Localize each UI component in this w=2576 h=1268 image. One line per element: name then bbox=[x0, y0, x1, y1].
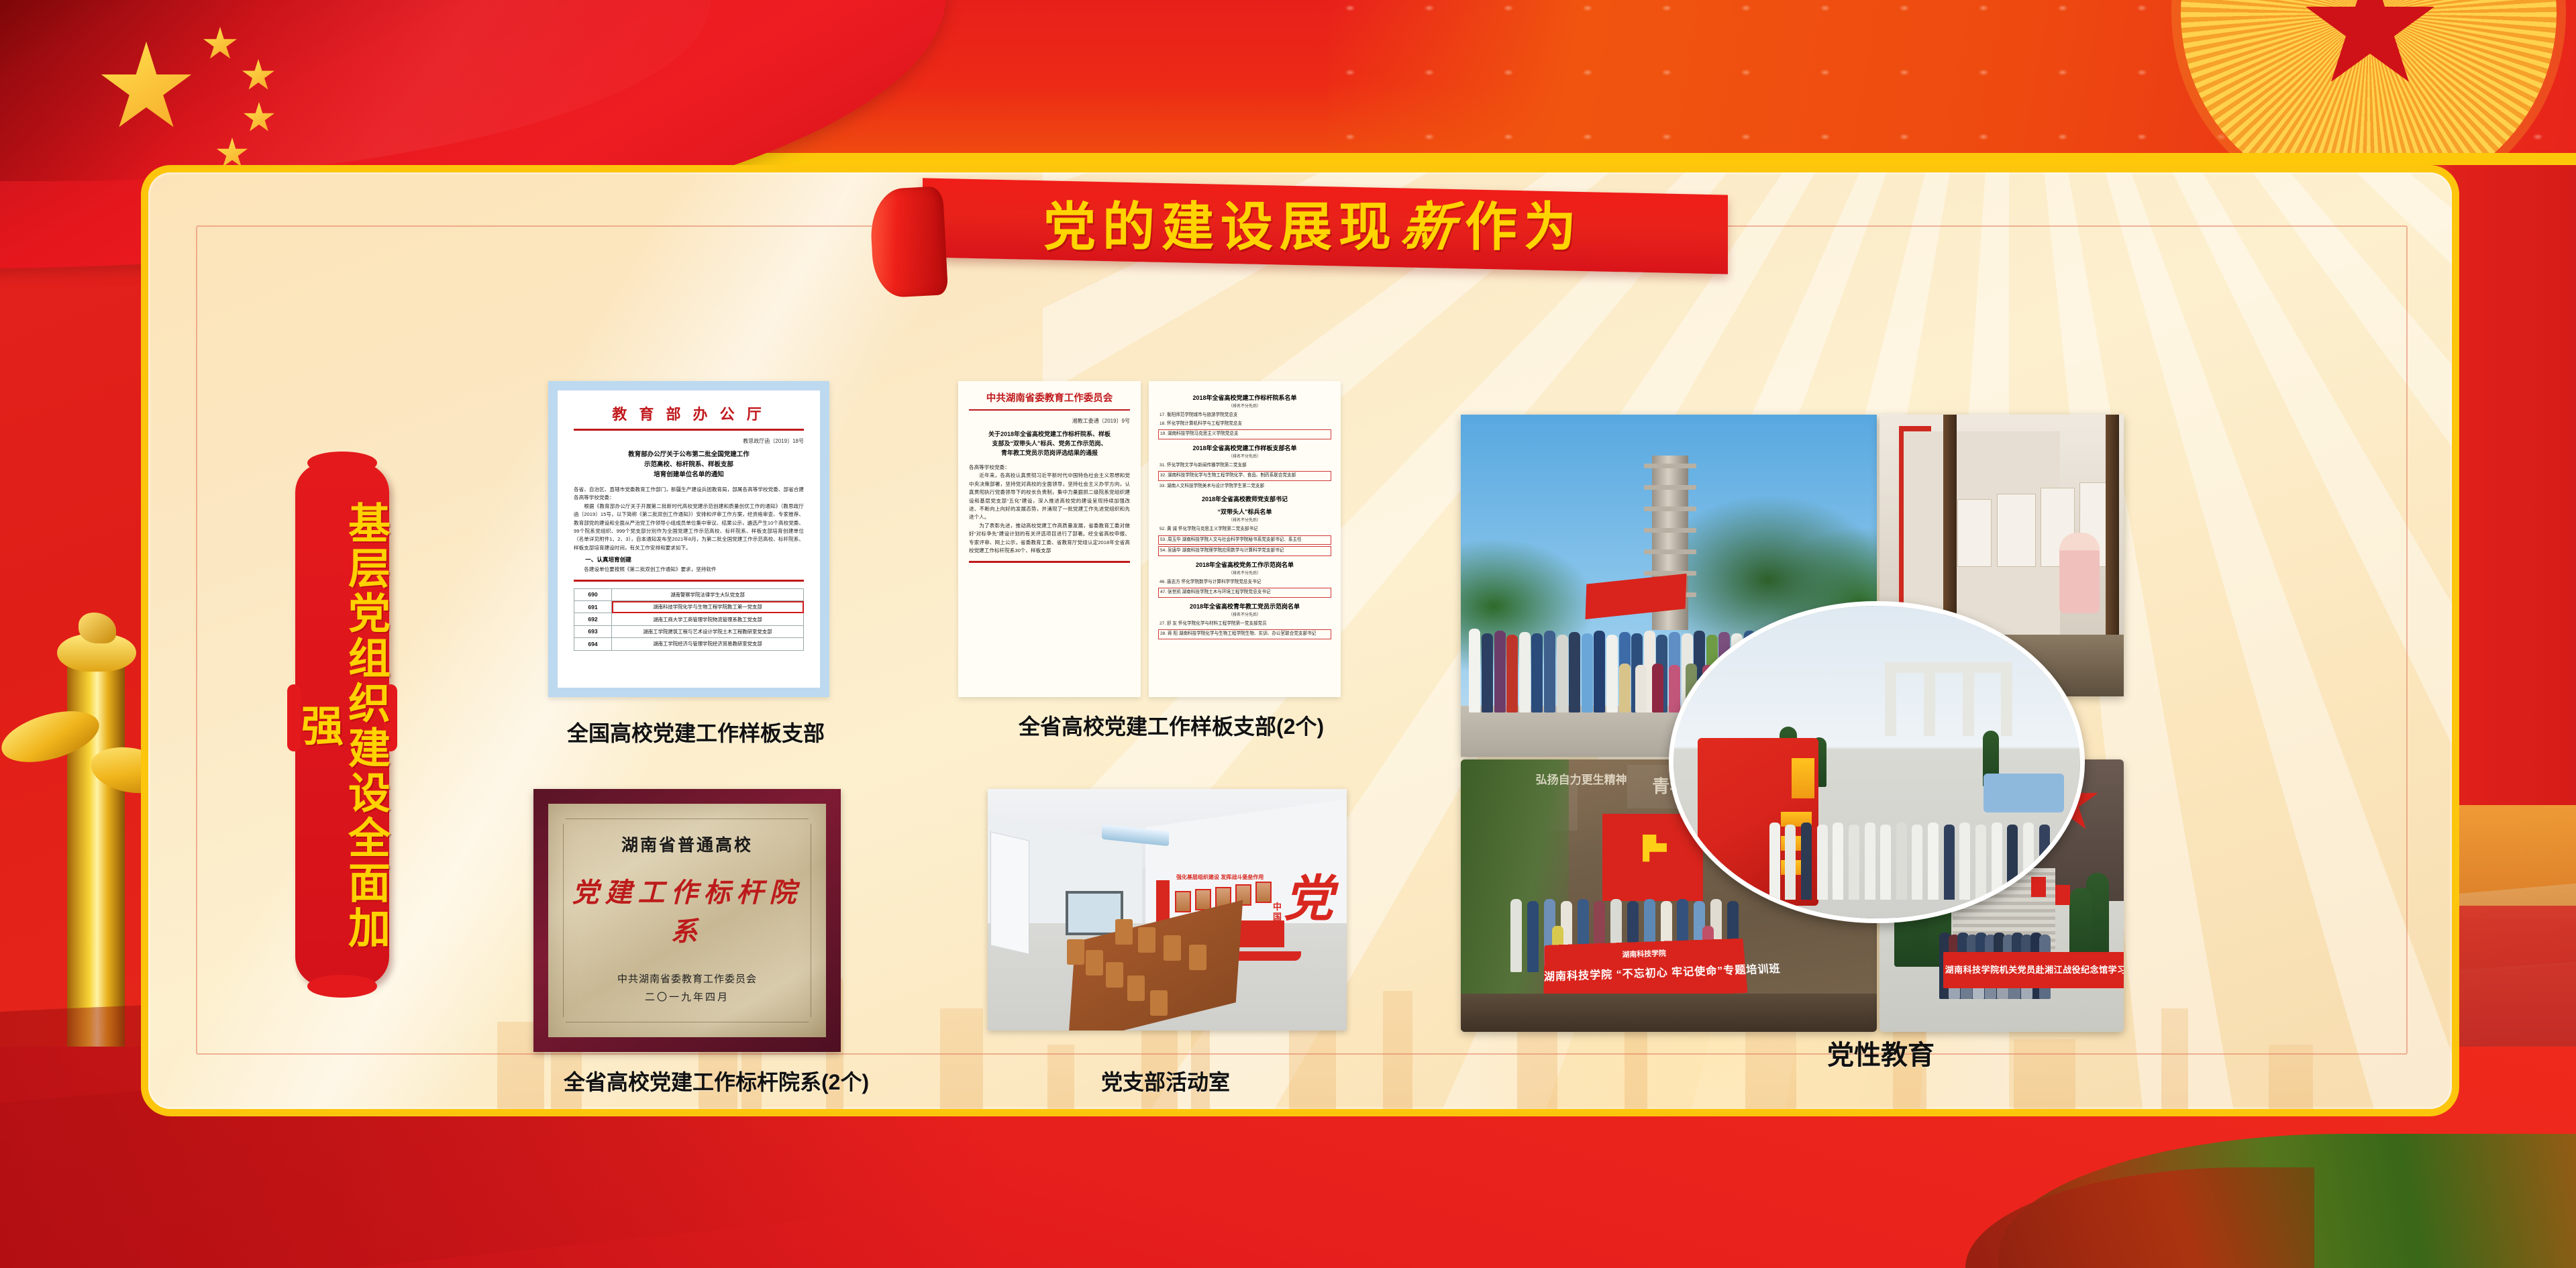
doc1-row-0-name: 湖南警察学院法律学生大队党支部 bbox=[612, 588, 804, 600]
list-item: 53. 周玉华 湖南科技学院人文与社会科学学院秘书系党支部书记、系主任 bbox=[1158, 535, 1331, 545]
title-italic-char: 新 bbox=[1393, 195, 1470, 260]
list-item: 31. 怀化学院文学与新闻传播学院第二党支部 bbox=[1158, 462, 1331, 470]
doc1-row-0-no: 690 bbox=[574, 588, 612, 600]
doc1-row-1-name: 湖南科技学院化学与生物工程学院教工第一党支部 bbox=[612, 601, 804, 613]
list-item: 19. 湖南科技学院马克思主义学院党总支 bbox=[1158, 429, 1331, 439]
plaque-line-4: 二〇一九年四月 bbox=[568, 990, 806, 1004]
doc2b-sec0-title: 2018年全省高校党建工作标杆院系名单 bbox=[1158, 393, 1331, 402]
doc2a-body-2: 近年来，各高校认真贯彻习近平新时代中国特色社会主义思想和党中央决策部署，坚持党对… bbox=[969, 472, 1130, 521]
doc2b-sec1-title: 2018年全省高校党建工作样板支部名单 bbox=[1158, 443, 1331, 452]
doc1-heading-line-2: 示范高校、标杆院系、样板支部 bbox=[574, 460, 804, 470]
table-row: 691湖南科技学院化学与生物工程学院教工第一党支部 bbox=[574, 601, 804, 613]
doc1-number: 教思政厅函〔2019〕18号 bbox=[574, 437, 804, 445]
photo-oath-ceremony[interactable] bbox=[1669, 601, 2085, 923]
poster-canvas: 世界人民大团结万岁 中华人民共和国万岁 bbox=[0, 0, 2576, 1268]
caption-doc1: 全国高校党建工作样板支部 bbox=[567, 717, 825, 747]
list-item: 27. 舒 友 怀化学院化学与材料工程学院第一党支部党员 bbox=[1158, 620, 1331, 629]
title-ribbon: 党的建设展现新作为 bbox=[822, 172, 1728, 286]
doc2b-sec2-title2: “双带头人”标兵名单 bbox=[1158, 507, 1331, 516]
cliff-banner-text: 湖南科技学院 “不忘初心 牢记使命”专题培训班 bbox=[1544, 961, 1747, 984]
poster-title: 党的建设展现新作为 bbox=[1043, 195, 1714, 259]
doc1-row-2-name: 湖南工商大学工商管理学院物流管理系教工党支部 bbox=[612, 613, 804, 625]
doc1-row-4-no: 694 bbox=[574, 638, 612, 650]
doc1-heading-line-1: 教育部办公厅关于公布第二批全国党建工作 bbox=[574, 450, 804, 460]
table-row: 692湖南工商大学工商管理学院物流管理系教工党支部 bbox=[574, 613, 804, 625]
doc2b-sec4-title: 2018年全省高校青年教工党员示范岗名单 bbox=[1158, 602, 1331, 611]
list-item: 52. 黄 诚 怀化学院马克思主义学院第二党支部书记 bbox=[1158, 525, 1331, 534]
doc1-section-title: 一、认真培育创建 bbox=[574, 556, 804, 564]
caption-collage: 党性教育 bbox=[1827, 1033, 1935, 1072]
list-item: 33. 湖南人文科技学院美术与设计学院学生第二党支部 bbox=[1158, 482, 1331, 491]
doc2b-sec3-title: 2018年全省高校党务工作示范岗名单 bbox=[1158, 560, 1331, 569]
doc1-row-3-name: 湖南工学院建筑工程与艺术设计学院土木工程教研室党支部 bbox=[612, 625, 804, 637]
doc1-row-2-no: 692 bbox=[574, 613, 612, 625]
plaque-line-2: 党建工作标杆院系 bbox=[568, 871, 806, 949]
doc2b-sec2-title: 2018年全省高校教师党支部书记 bbox=[1158, 494, 1331, 503]
doc1-body-2: 根据《教育部办公厅关于开展第二批新时代高校党建示范创建和质量创优工作的通知》（教… bbox=[574, 503, 804, 552]
doc1-table: 690湖南警察学院法律学生大队党支部 691湖南科技学院化学与生物工程学院教工第… bbox=[574, 588, 804, 651]
list-item: 47. 张世凯 湖南科技学院土木与环境工程学院党总支书记 bbox=[1158, 588, 1331, 598]
doc2b-sec1-sub: （排名不分先后） bbox=[1158, 453, 1331, 459]
photo-banner-memorial: 湖南科技学院机关党员赴湘江战役纪念馆学习教育活动 bbox=[1943, 952, 2124, 988]
doc1-row-4-name: 湖南工学院经济与管理学院经济贸易教研室党支部 bbox=[612, 638, 804, 650]
doc2a-number: 湘教工委通〔2019〕9号 bbox=[969, 417, 1130, 425]
list-item: 46. 唐志方 怀化学院数学与计算科学学院党总支书记 bbox=[1158, 578, 1331, 587]
title-main: 党的建设展现 bbox=[1043, 197, 1398, 256]
document-card-national[interactable]: 教 育 部 办 公 厅 教思政厅函〔2019〕18号 教育部办公厅关于公布第二批… bbox=[548, 381, 829, 697]
doc1-row-3-no: 693 bbox=[574, 625, 612, 637]
table-row: 693湖南工学院建筑工程与艺术设计学院土木工程教研室党支部 bbox=[574, 625, 804, 637]
list-item: 17. 衡阳师范学院城市与旅游学院党总支 bbox=[1158, 411, 1331, 420]
doc1-row-1-no: 691 bbox=[574, 601, 612, 613]
party-education-photo-collage: 青年 弘扬自力更生精神 bbox=[1461, 415, 2124, 1032]
doc2b-sec4-sub: （排名不分先后） bbox=[1158, 611, 1331, 617]
table-row: 690湖南警察学院法律学生大队党支部 bbox=[574, 588, 804, 600]
doc2a-heading-line-2: 支部及“双带头人”标兵、党务工作示范岗、 bbox=[969, 439, 1130, 448]
room-mural-slogan: 强化基层组织建设 发挥战斗堡垒作用 bbox=[1176, 874, 1264, 881]
title-tail: 作为 bbox=[1465, 197, 1583, 256]
oath-takers-row bbox=[1763, 806, 2080, 900]
vertical-banner: 基层党组织建设全面加强 bbox=[295, 463, 389, 986]
party-branch-room-photo[interactable]: 党 中国梦 强化基层组织建设 发挥战斗堡垒作用 bbox=[988, 789, 1347, 1031]
doc1-body-1: 各省、自治区、直辖市党委教育工作部门，新疆生产建设兵团教育局，部属各高等学校党委… bbox=[574, 486, 804, 503]
doc2a-heading-line-1: 关于2018年全省高校党建工作标杆院系、样板 bbox=[969, 429, 1130, 439]
doc2a-heading-line-3: 青年教工党员示范岗评选结果的通报 bbox=[969, 448, 1130, 458]
room-mural-dream-text: 中国梦 bbox=[1273, 902, 1288, 932]
doc1-section-body: 各建设单位要按照《第二批双创工作通知》要求，坚持软件 bbox=[574, 566, 804, 574]
doc2b-sec0-sub: （排名不分先后） bbox=[1158, 403, 1331, 409]
award-plaque-photo[interactable]: 湖南省普通高校 党建工作标杆院系 中共湖南省委教育工作委员会 二〇一九年四月 bbox=[533, 789, 841, 1052]
plaque-line-1: 湖南省普通高校 bbox=[568, 832, 806, 856]
document-province-notice[interactable]: 中共湖南省委教育工作委员会 湘教工委通〔2019〕9号 关于2018年全省高校党… bbox=[958, 381, 1141, 697]
doc2a-body-1: 各高等学校党委： bbox=[969, 464, 1130, 472]
doc2b-sec2-sub: （排名不分先后） bbox=[1158, 517, 1331, 523]
list-item: 18. 怀化学院计算机科学与工程学院党总支 bbox=[1158, 420, 1331, 429]
photo-banner-cliff: 湖南科技学院 湖南科技学院 “不忘初心 牢记使命”专题培训班 bbox=[1543, 939, 1747, 1000]
document-card-province[interactable]: 中共湖南省委教育工作委员会 湘教工委通〔2019〕9号 关于2018年全省高校党… bbox=[958, 381, 1341, 697]
plaque-line-3: 中共湖南省委教育工作委员会 bbox=[568, 971, 806, 986]
caption-plaque: 全省高校党建工作标杆院系(2个) bbox=[564, 1065, 869, 1096]
cliff-banner-org: 湖南科技学院 bbox=[1544, 945, 1744, 963]
table-row: 694湖南工学院经济与管理学院经济贸易教研室党支部 bbox=[574, 638, 804, 650]
caption-room: 党支部活动室 bbox=[1101, 1065, 1230, 1096]
doc2a-body-3: 为了表彰先进，推动高校党建工作高质量发展，省委教育工委对做好“对标争先”建设计划… bbox=[969, 522, 1130, 556]
memorial-banner-text: 湖南科技学院机关党员赴湘江战役纪念馆学习教育活动 bbox=[1943, 963, 2124, 975]
doc1-heading-line-3: 培育创建单位名单的通知 bbox=[574, 470, 804, 480]
list-item: 54. 吴唐华 湖南科技学院理学院应用数学与计算科学党支部书记 bbox=[1158, 546, 1331, 556]
vertical-banner-text: 基层党组织建设全面加强 bbox=[295, 491, 389, 961]
document-province-namelist[interactable]: 2018年全省高校党建工作标杆院系名单 （排名不分先后） 17. 衡阳师范学院城… bbox=[1149, 381, 1341, 697]
room-mural-character: 党 bbox=[1284, 875, 1333, 924]
caption-doc2: 全省高校党建工作样板支部(2个) bbox=[1019, 710, 1324, 741]
doc2b-sec3-sub: （排名不分先后） bbox=[1158, 570, 1331, 576]
doc2a-org: 中共湖南省委教育工作委员会 bbox=[969, 390, 1130, 405]
doc1-org: 教 育 部 办 公 厅 bbox=[574, 403, 804, 424]
list-item: 32. 湖南科技学院化学与生物工程学院化学、食品、制药系联合党支部 bbox=[1158, 471, 1331, 481]
list-item: 28. 蒋 阳 湖南科技学院化学与生物工程学院生物、实训、办公室联合党支部书记 bbox=[1158, 629, 1331, 639]
